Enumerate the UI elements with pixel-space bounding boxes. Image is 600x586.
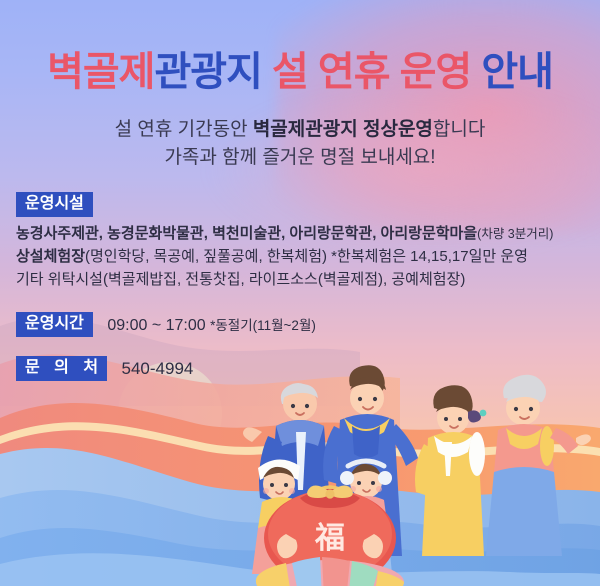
subtitle-line-1: 설 연휴 기간동안 벽골제관광지 정상운영합니다 [0,116,600,144]
hours-value: 09:00 ~ 17:00 [107,317,210,334]
subtitle-line1-pre: 설 연휴 기간동안 [115,119,253,140]
section-operating-facilities: 운영시설 농경사주제관, 농경문화박물관, 벽천미술관, 아리랑문학관, 아리랑… [16,192,553,292]
subtitle-line1-post: 합니다 [433,119,485,140]
facility-list: 농경사주제관, 농경문화박물관, 벽천미술관, 아리랑문학관, 아리랑문학마을(… [16,223,553,291]
facility-line-1: 농경사주제관, 농경문화박물관, 벽천미술관, 아리랑문학관, 아리랑문학마을(… [16,223,553,246]
facility-line-3: 기타 위탁시설(벽골제밥집, 전통찻집, 라이프소스(벽골제점), 공예체험장) [16,269,553,292]
title-segment-2: 관광지 [154,50,261,94]
section-contact: 문 의 처 540-4994 [16,356,193,381]
facility-line2-rest: (명인학당, 목공예, 짚풀공예, 한복체험) *한복체험은 14,15,17일… [85,248,528,265]
contact-phone-number[interactable]: 540-4994 [122,359,194,379]
subtitle-line-2: 가족과 함께 즐거운 명절 보내세요! [0,144,600,172]
contact-label-badge: 문 의 처 [16,356,107,381]
poster-canvas: 福 벽골제관광지 설 연휴 운영 안내 설 연휴 기간동안 벽골제관광지 정상 [0,0,600,586]
hours-note: *동절기(11월~2월) [210,318,316,333]
facility-line1-main: 농경사주제관, 농경문화박물관, 벽천미술관, 아리랑문학관, 아리랑문학마을 [16,225,477,242]
title-segment-4: 안내 [481,50,553,94]
hours-label-badge: 운영시간 [16,312,93,337]
subtitle-line1-highlight: 벽골제관광지 정상운영 [253,119,433,140]
title-segment-1: 벽골제 [47,50,154,94]
facility-line1-note: (차량 3분거리) [477,227,553,241]
hours-value-group: 09:00 ~ 17:00 *동절기(11월~2월) [107,314,316,335]
facility-label-badge: 운영시설 [16,192,93,217]
facility-line2-strong: 상설체험장 [16,248,85,265]
section-operating-hours: 운영시간 09:00 ~ 17:00 *동절기(11월~2월) [16,312,316,337]
facility-line-2: 상설체험장(명인학당, 목공예, 짚풀공예, 한복체험) *한복체험은 14,1… [16,246,553,269]
title-segment-3: 설 연휴 운영 [262,50,481,94]
poster-title: 벽골제관광지 설 연휴 운영 안내 [0,52,600,92]
poster-subtitle: 설 연휴 기간동안 벽골제관광지 정상운영합니다 가족과 함께 즐거운 명절 보… [0,116,600,171]
svg-text:福: 福 [314,521,345,556]
